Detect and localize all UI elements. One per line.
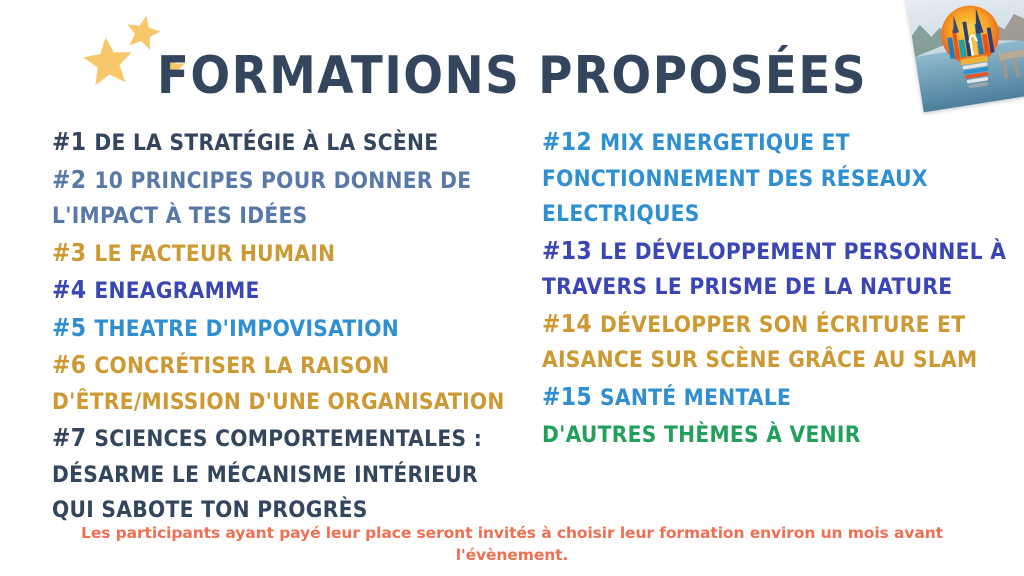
course-item[interactable]: #13 LE DÉVELOPPEMENT PERSONNEL À TRAVERS… bbox=[542, 233, 1010, 306]
course-label: SANTÉ MENTALE bbox=[600, 385, 791, 411]
course-number: #13 bbox=[542, 236, 600, 265]
course-item[interactable]: #7 SCIENCES COMPORTEMENTALES : DÉSARME L… bbox=[52, 420, 508, 529]
course-item[interactable]: #15 SANTÉ MENTALE bbox=[542, 379, 1010, 417]
course-number: #7 bbox=[52, 423, 94, 452]
course-label: CONCRÉTISER LA RAISON D'ÊTRE/MISSION D'U… bbox=[52, 353, 505, 415]
course-item[interactable]: #1 DE LA STRATÉGIE À LA SCÈNE bbox=[52, 124, 508, 162]
course-item[interactable]: #6 CONCRÉTISER LA RAISON D'ÊTRE/MISSION … bbox=[52, 347, 508, 420]
course-column-right: #12 MIX ENERGETIQUE ET FONCTIONNEMENT DE… bbox=[516, 124, 1024, 454]
course-label: SCIENCES COMPORTEMENTALES : DÉSARME LE M… bbox=[52, 426, 482, 523]
course-number: #4 bbox=[52, 275, 94, 304]
course-item[interactable]: #2 10 PRINCIPES POUR DONNER DE L'IMPACT … bbox=[52, 162, 508, 235]
course-item[interactable]: #12 MIX ENERGETIQUE ET FONCTIONNEMENT DE… bbox=[542, 124, 1010, 233]
course-item[interactable]: D'AUTRES THÈMES À VENIR bbox=[542, 416, 1010, 454]
course-item[interactable]: #5 THEATRE D'IMPOVISATION bbox=[52, 310, 508, 348]
footer-note: Les participants ayant payé leur place s… bbox=[62, 522, 962, 566]
course-label: THEATRE D'IMPOVISATION bbox=[94, 316, 399, 342]
course-number: #14 bbox=[542, 309, 600, 338]
slide-root: FORMATIONS PROPOSÉES #1 DE LA STRATÉGIE … bbox=[0, 0, 1024, 576]
course-item[interactable]: #4 ENEAGRAMME bbox=[52, 272, 508, 310]
course-column-left: #1 DE LA STRATÉGIE À LA SCÈNE #2 10 PRIN… bbox=[0, 124, 516, 529]
course-label: 10 PRINCIPES POUR DONNER DE L'IMPACT À T… bbox=[52, 168, 471, 230]
course-label: DE LA STRATÉGIE À LA SCÈNE bbox=[94, 130, 438, 156]
course-label: ENEAGRAMME bbox=[94, 278, 259, 304]
course-item[interactable]: #3 LE FACTEUR HUMAIN bbox=[52, 235, 508, 273]
course-columns: #1 DE LA STRATÉGIE À LA SCÈNE #2 10 PRIN… bbox=[0, 124, 1024, 529]
course-number: #5 bbox=[52, 313, 94, 342]
course-number: #15 bbox=[542, 382, 600, 411]
course-label: DÉVELOPPER SON ÉCRITURE ET AISANCE SUR S… bbox=[542, 312, 977, 374]
course-label: LE DÉVELOPPEMENT PERSONNEL À TRAVERS LE … bbox=[542, 239, 1006, 301]
course-number: #1 bbox=[52, 127, 94, 156]
course-label: MIX ENERGETIQUE ET FONCTIONNEMENT DES RÉ… bbox=[542, 130, 928, 227]
course-number: #3 bbox=[52, 238, 94, 267]
page-title: FORMATIONS PROPOSÉES bbox=[0, 50, 1024, 102]
course-number: #2 bbox=[52, 165, 94, 194]
course-item[interactable]: #14 DÉVELOPPER SON ÉCRITURE ET AISANCE S… bbox=[542, 306, 1010, 379]
course-label: D'AUTRES THÈMES À VENIR bbox=[542, 422, 861, 448]
course-label: LE FACTEUR HUMAIN bbox=[94, 241, 335, 267]
course-number: #12 bbox=[542, 127, 600, 156]
course-number: #6 bbox=[52, 350, 94, 379]
